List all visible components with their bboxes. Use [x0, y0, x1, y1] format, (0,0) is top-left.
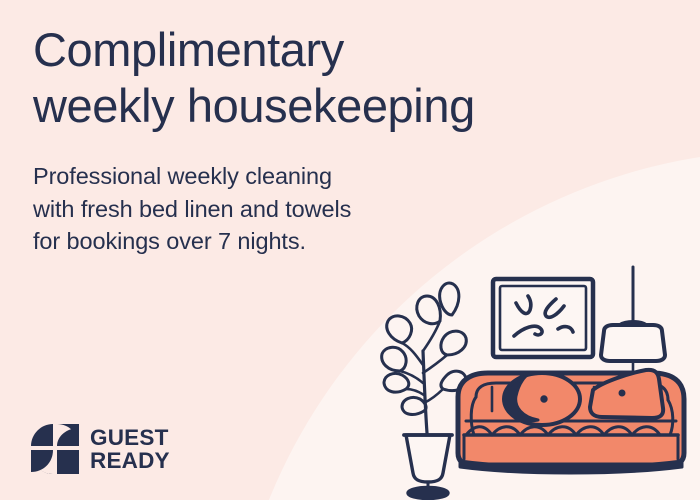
- page-title: Complimentary weekly housekeeping: [33, 22, 633, 134]
- potted-plant-icon: [382, 283, 467, 498]
- subtitle-text: Professional weekly cleaning with fresh …: [33, 160, 453, 258]
- living-room-illustration: [380, 255, 700, 500]
- framed-artwork-icon: [493, 279, 593, 357]
- pendant-lamp-icon: [601, 267, 665, 384]
- coral-sofa-icon: [458, 370, 684, 473]
- round-cushion-icon: [504, 373, 580, 425]
- logo-wordmark: GUEST READY: [90, 426, 170, 472]
- guestready-quadrant-mark: [31, 424, 79, 474]
- banner-content: Complimentary weekly housekeeping Profes…: [0, 0, 700, 500]
- guestready-logo[interactable]: GUEST READY: [31, 424, 170, 474]
- promo-banner: Complimentary weekly housekeeping Profes…: [0, 0, 700, 500]
